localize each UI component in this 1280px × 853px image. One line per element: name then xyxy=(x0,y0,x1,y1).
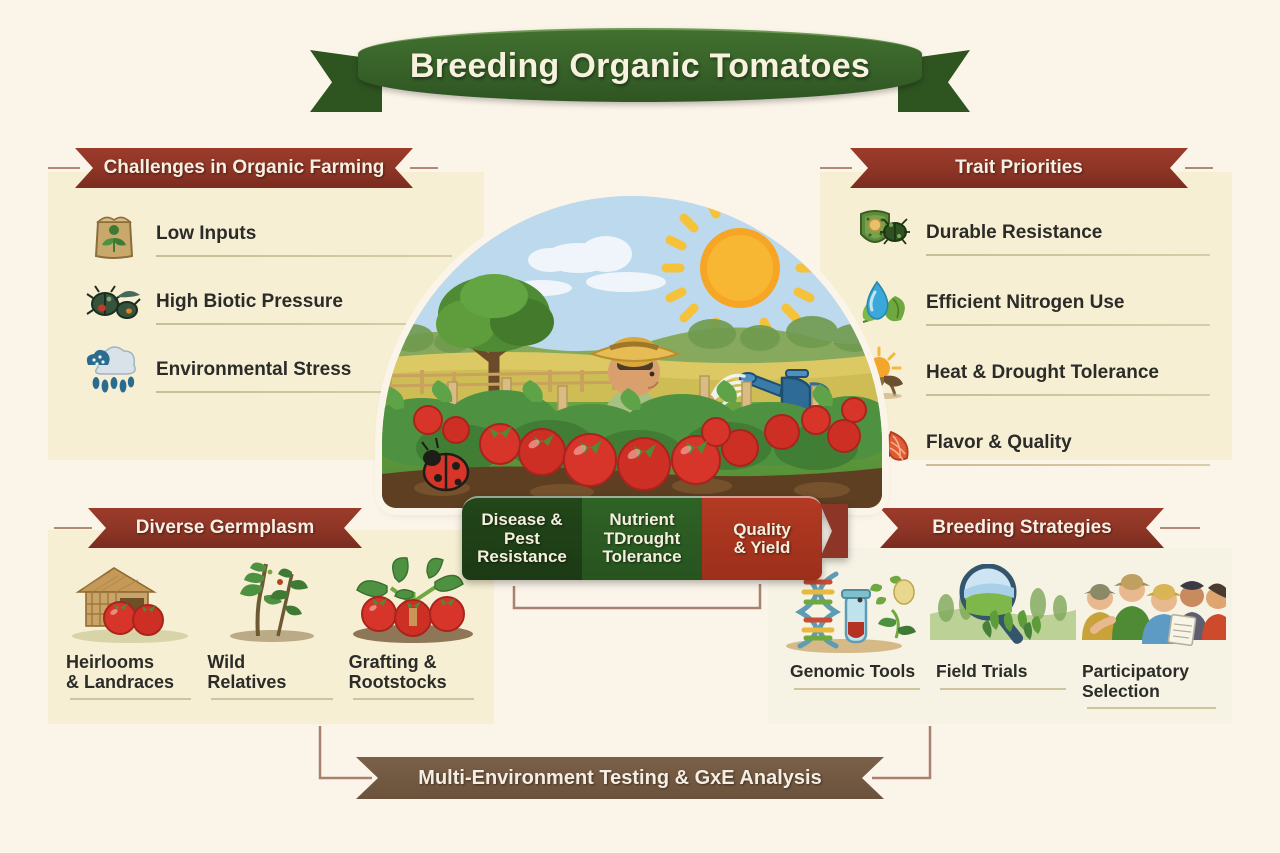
title-ribbon: Breeding Organic Tomatoes xyxy=(310,22,970,117)
list-item-label-box: Heat & Drought Tolerance xyxy=(916,344,1210,402)
ribbon-segment-text: Quality & Yield xyxy=(729,521,795,558)
item-caption: Heirlooms & Landraces xyxy=(60,644,201,692)
ribbon-segment-nutrient: Nutrient TDrought Tolerance xyxy=(582,496,702,580)
ribbon-line2: & Yield xyxy=(734,538,791,557)
list-item: Wild Relatives xyxy=(201,548,342,700)
item-caption: Genomic Tools xyxy=(784,654,930,682)
item-rule xyxy=(926,464,1210,466)
title-banner: Breeding Organic Tomatoes xyxy=(358,28,922,102)
heading-strategies: Breeding Strategies xyxy=(932,517,1112,539)
caption-line1: Wild xyxy=(207,652,245,672)
banner-stub-left-traits xyxy=(820,167,852,169)
water-drop-leaf-icon xyxy=(852,274,916,332)
heading-banner-germplasm: Diverse Germplasm xyxy=(88,508,362,548)
list-item: Participatory Selection xyxy=(1076,562,1226,709)
shield-bug-icon xyxy=(852,204,916,262)
list-item-label-box: Efficient Nitrogen Use xyxy=(916,274,1210,332)
list-item-label-box: Low Inputs xyxy=(146,205,452,263)
item-rule xyxy=(156,323,452,325)
list-item: Genomic Tools xyxy=(784,562,930,709)
item-rule xyxy=(70,698,192,700)
ribbon-flag-tail xyxy=(820,504,848,558)
ribbon-line1: Nutrient xyxy=(609,510,674,529)
list-item: Flavor & Quality xyxy=(852,408,1210,478)
list-item: Heat & Drought Tolerance xyxy=(852,338,1210,408)
item-label: Heat & Drought Tolerance xyxy=(916,362,1159,384)
caption-line1: Participatory xyxy=(1082,661,1189,681)
caption-line1: Field Trials xyxy=(936,661,1027,681)
list-item: Heirlooms & Landraces xyxy=(60,548,201,700)
item-caption: Wild Relatives xyxy=(201,644,342,692)
caption-line1: Grafting & xyxy=(349,652,437,672)
item-rule xyxy=(794,688,920,690)
list-item: High Biotic Pressure xyxy=(82,268,452,336)
wild-plant-icon xyxy=(214,548,330,644)
heading-traits: Trait Priorities xyxy=(955,157,1083,179)
caption-line2: Relatives xyxy=(207,672,286,692)
ribbon-line1: Disease & xyxy=(481,510,562,529)
magnifier-field-icon xyxy=(930,562,1076,654)
rain-cloud-icon xyxy=(82,341,146,399)
banner-stub-left-challenges xyxy=(48,167,80,169)
farmers-group-icon xyxy=(1076,562,1226,654)
list-item: Efficient Nitrogen Use xyxy=(852,268,1210,338)
item-rule xyxy=(211,698,333,700)
list-item-label-box: Flavor & Quality xyxy=(916,414,1210,472)
item-label: High Biotic Pressure xyxy=(146,291,343,313)
list-item-label-box: Durable Resistance xyxy=(916,204,1210,262)
heading-germplasm: Diverse Germplasm xyxy=(136,517,315,539)
item-label: Efficient Nitrogen Use xyxy=(916,292,1124,314)
item-caption: Grafting & Rootstocks xyxy=(343,644,484,692)
item-caption: Participatory Selection xyxy=(1076,654,1226,701)
heading-challenges: Challenges in Organic Farming xyxy=(104,157,385,179)
item-rule xyxy=(926,324,1210,326)
item-caption: Field Trials xyxy=(930,654,1076,682)
list-strategies: Genomic Tools xyxy=(784,562,1222,709)
heading-banner-strategies: Breeding Strategies xyxy=(880,508,1164,548)
infographic-canvas: Breeding Organic Tomatoes Challenges in … xyxy=(0,0,1280,853)
banner-stub-right-traits xyxy=(1185,167,1213,169)
ribbon-line3: Tolerance xyxy=(602,547,681,566)
list-traits: Durable Resistance Efficient Nitrogen Us… xyxy=(852,198,1210,478)
item-rule xyxy=(1087,707,1216,709)
center-ribbon: Disease & Pest Resistance Nutrient TDrou… xyxy=(462,496,822,580)
item-rule xyxy=(926,254,1210,256)
caption-line1: Genomic Tools xyxy=(790,661,915,681)
list-item: Durable Resistance xyxy=(852,198,1210,268)
caption-line2: Rootstocks xyxy=(349,672,447,692)
ribbon-line1: Quality xyxy=(733,520,791,539)
heading-banner-challenges: Challenges in Organic Farming xyxy=(75,148,413,188)
beetle-pest-icon xyxy=(82,273,146,331)
banner-stub-right-strategies xyxy=(1160,527,1200,529)
item-rule xyxy=(926,394,1210,396)
item-label: Flavor & Quality xyxy=(916,432,1072,454)
ribbon-segment-text: Disease & Pest Resistance xyxy=(473,511,571,566)
page-title: Breeding Organic Tomatoes xyxy=(410,47,870,86)
item-label: Durable Resistance xyxy=(916,222,1102,244)
item-label: Environmental Stress xyxy=(146,359,351,381)
ribbon-line3: Resistance xyxy=(477,547,567,566)
list-item-label-box: High Biotic Pressure xyxy=(146,273,452,331)
ribbon-segment-disease: Disease & Pest Resistance xyxy=(462,496,582,580)
ribbon-line2: Pest xyxy=(504,529,540,548)
item-label: Low Inputs xyxy=(146,223,256,245)
seed-bag-icon xyxy=(82,205,146,263)
bottom-banner-text: Multi-Environment Testing & GxE Analysis xyxy=(418,767,821,790)
item-rule xyxy=(156,255,452,257)
banner-stub-right-challenges xyxy=(410,167,438,169)
caption-line2: & Landraces xyxy=(66,672,174,692)
list-item: Field Trials xyxy=(930,562,1076,709)
list-item: Low Inputs xyxy=(82,200,452,268)
ribbon-line2: TDrought xyxy=(604,529,680,548)
bottom-banner: Multi-Environment Testing & GxE Analysis xyxy=(356,757,884,799)
ribbon-segment-quality: Quality & Yield xyxy=(702,496,822,580)
item-rule xyxy=(353,698,475,700)
caption-line2: Selection xyxy=(1082,681,1160,701)
ribbon-segment-text: Nutrient TDrought Tolerance xyxy=(598,511,685,566)
caption-line1: Heirlooms xyxy=(66,652,154,672)
list-germplasm: Heirlooms & Landraces xyxy=(60,548,484,700)
barn-tomatoes-icon xyxy=(68,548,194,644)
heading-banner-traits: Trait Priorities xyxy=(850,148,1188,188)
item-rule xyxy=(940,688,1066,690)
banner-stub-left-germplasm xyxy=(54,527,92,529)
